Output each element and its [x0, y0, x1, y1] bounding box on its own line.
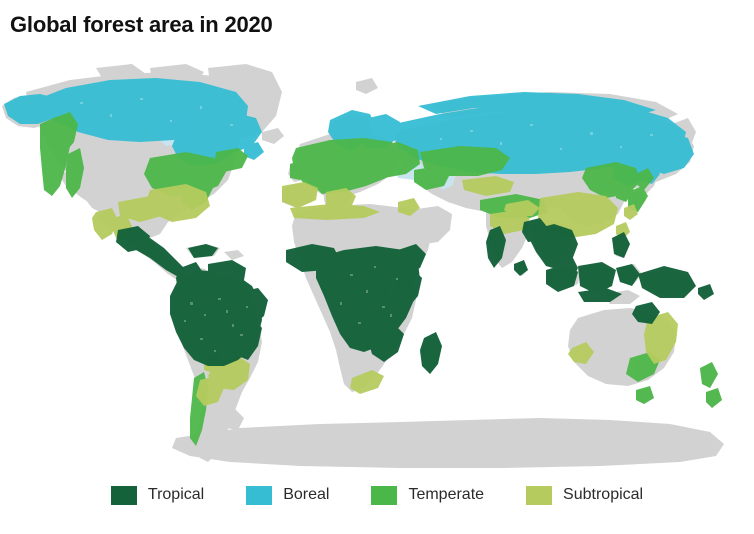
legend-swatch-boreal: [246, 486, 272, 505]
legend-item-tropical[interactable]: Tropical: [111, 486, 204, 505]
legend-item-temperate[interactable]: Temperate: [371, 486, 484, 505]
world-map: [0, 62, 754, 472]
legend-label-boreal: Boreal: [283, 486, 329, 504]
world-map-svg: [0, 62, 754, 472]
legend-item-subtropical[interactable]: Subtropical: [526, 486, 643, 505]
legend-label-subtropical: Subtropical: [563, 486, 643, 504]
legend-label-temperate: Temperate: [408, 486, 484, 504]
legend-swatch-tropical: [111, 486, 137, 505]
legend-item-boreal[interactable]: Boreal: [246, 486, 329, 505]
legend-swatch-temperate: [371, 486, 397, 505]
legend: Tropical Boreal Temperate Subtropical: [0, 478, 754, 512]
legend-swatch-subtropical: [526, 486, 552, 505]
figure-container: Global forest area in 2020: [0, 0, 754, 534]
page-title: Global forest area in 2020: [10, 12, 273, 38]
legend-label-tropical: Tropical: [148, 486, 204, 504]
